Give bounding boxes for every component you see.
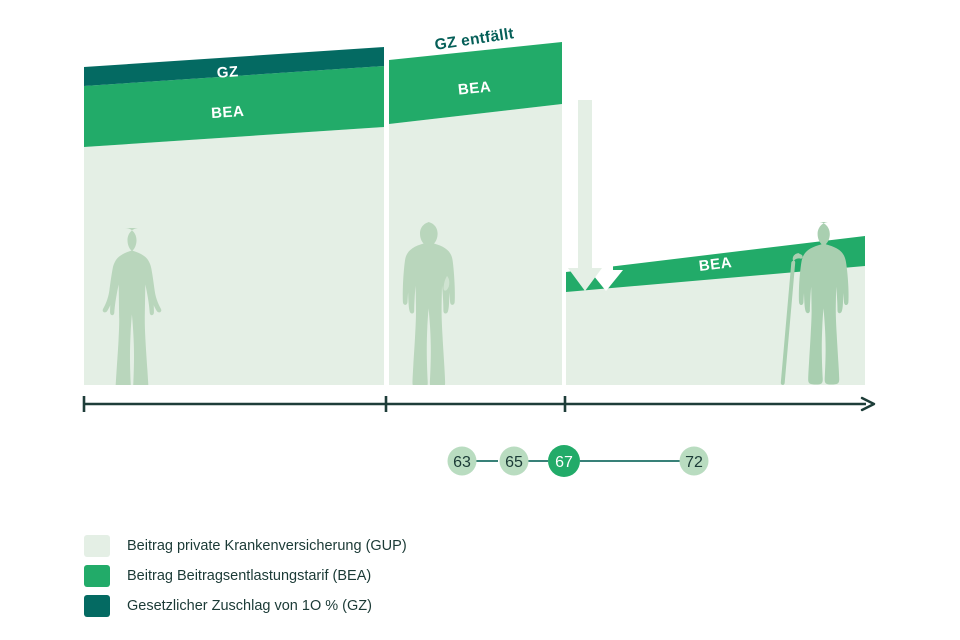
panel-retirement: BEA: [566, 100, 865, 385]
legend-swatch-gz: [84, 595, 110, 617]
age-marker-63-label: 63: [453, 454, 471, 471]
age-marker-67-label: 67: [555, 454, 573, 471]
age-marker-72-label: 72: [685, 454, 703, 471]
legend-label-bea: Beitrag Beitragsentlastungstarif (BEA): [127, 568, 371, 584]
age-marker-65[interactable]: 65: [500, 447, 529, 476]
legend: Beitrag private Krankenversicherung (GUP…: [84, 531, 604, 621]
gz-band-label: GZ: [216, 63, 239, 81]
infographic-canvas: GZ BEA BEA GZ entfällt: [0, 0, 960, 640]
age-marker-65-label: 65: [505, 454, 523, 471]
bea-band-label-panel1: BEA: [211, 103, 245, 122]
legend-swatch-bea: [84, 565, 110, 587]
panel-young: GZ BEA: [84, 47, 384, 392]
age-scale: 63 65 67 72: [448, 445, 709, 477]
age-marker-67[interactable]: 67: [548, 445, 580, 477]
legend-swatch-gup: [84, 535, 110, 557]
legend-label-gz: Gesetzlicher Zuschlag von 1O % (GZ): [127, 598, 372, 614]
age-marker-63[interactable]: 63: [448, 447, 477, 476]
legend-item-bea: Beitrag Beitragsentlastungstarif (BEA): [84, 561, 604, 591]
panel-midlife: BEA GZ entfällt: [389, 25, 562, 388]
timeline-axis: [84, 396, 874, 412]
bea-band-label-panel2: BEA: [457, 78, 492, 98]
legend-item-gz: Gesetzlicher Zuschlag von 1O % (GZ): [84, 591, 604, 621]
age-marker-72[interactable]: 72: [680, 447, 709, 476]
legend-item-gup: Beitrag private Krankenversicherung (GUP…: [84, 531, 604, 561]
legend-label-gup: Beitrag private Krankenversicherung (GUP…: [127, 538, 407, 554]
